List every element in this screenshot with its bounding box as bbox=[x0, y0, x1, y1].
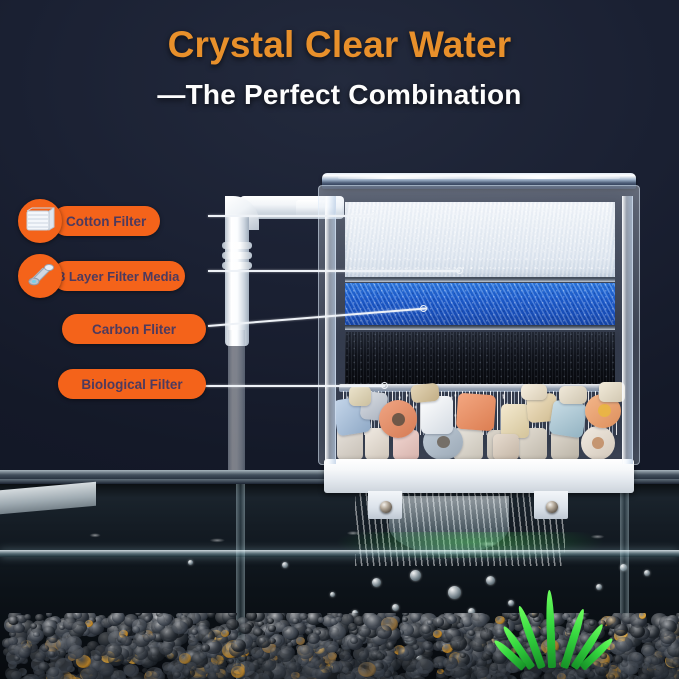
activated-carbon-layer bbox=[345, 332, 615, 384]
pipe-ring-upper bbox=[222, 242, 252, 249]
gravel-pebble bbox=[24, 614, 31, 620]
gravel-pebble bbox=[660, 631, 675, 644]
gravel-pebble bbox=[541, 673, 556, 679]
callout-label-carbon: Carbon Fliter bbox=[62, 314, 206, 344]
callout-label-cotton: Cotton Filter bbox=[52, 206, 160, 236]
gravel-pebble bbox=[121, 636, 132, 646]
gravel-pebble bbox=[105, 643, 122, 657]
bio-media-piece bbox=[456, 393, 496, 432]
product-infographic: Crystal Clear Water —The Perfect Combina… bbox=[0, 0, 679, 679]
gravel-pebble bbox=[112, 613, 125, 623]
gravel-pebble bbox=[48, 667, 59, 677]
gravel-pebble bbox=[253, 628, 262, 636]
gravel-pebble bbox=[56, 648, 66, 657]
bio-media-piece bbox=[549, 400, 588, 439]
callout-biological-filter[interactable]: Biological Filter bbox=[58, 369, 206, 399]
gravel-pebble bbox=[191, 629, 198, 635]
gravel-pebble bbox=[227, 658, 234, 664]
gravel-pebble bbox=[315, 668, 330, 679]
gravel-pebble bbox=[288, 662, 301, 673]
gravel-pebble bbox=[318, 617, 325, 623]
pipe-ring-mid bbox=[222, 252, 252, 259]
bio-media-piece bbox=[501, 404, 529, 438]
pipe-submerged-section bbox=[228, 330, 245, 470]
gravel-pebble bbox=[188, 637, 199, 646]
gravel-pebble bbox=[422, 641, 433, 650]
headline-block: Crystal Clear Water —The Perfect Combina… bbox=[0, 26, 679, 111]
filter-media-roll-icon bbox=[18, 254, 62, 298]
gravel-pebble bbox=[421, 625, 431, 634]
gravel-pebble bbox=[457, 623, 463, 628]
leader-dot-bio bbox=[381, 382, 388, 389]
gravel-pebble bbox=[651, 657, 661, 665]
gravel-pebble bbox=[132, 626, 140, 633]
gravel-pebble bbox=[433, 630, 442, 638]
gravel-pebble bbox=[296, 637, 305, 645]
page-title: Crystal Clear Water bbox=[0, 26, 679, 65]
gravel-pebble bbox=[672, 659, 679, 668]
lid-highlight bbox=[338, 176, 620, 179]
callout-carbon-filter[interactable]: Carbon Fliter bbox=[62, 314, 206, 344]
callout-label-media: 8 Layer Filter Media bbox=[52, 261, 185, 291]
gravel-pebble bbox=[410, 613, 421, 622]
bio-media-piece bbox=[410, 383, 440, 404]
water-line bbox=[0, 550, 679, 557]
gravel-pebble bbox=[631, 652, 642, 662]
gravel-pebble bbox=[199, 652, 207, 659]
bracket-screw-right bbox=[546, 501, 558, 513]
gravel-pebble bbox=[399, 648, 410, 657]
gravel-pebble bbox=[639, 613, 647, 619]
gravel-pebble bbox=[589, 620, 596, 626]
pump-housing-base bbox=[324, 459, 634, 493]
gravel-pebble bbox=[344, 671, 356, 679]
bio-media-piece bbox=[559, 386, 587, 404]
gravel-pebble bbox=[11, 671, 22, 679]
gravel-pebble bbox=[18, 647, 31, 658]
cotton-pad-icon bbox=[18, 199, 62, 243]
pipe-ring-lower bbox=[222, 262, 252, 269]
gravel-pebble bbox=[641, 645, 655, 657]
pipe-vertical bbox=[225, 216, 249, 346]
gravel-pebble bbox=[183, 668, 195, 678]
gravel-pebble bbox=[486, 673, 497, 679]
gravel-pebble bbox=[282, 626, 298, 640]
gravel-pebble bbox=[172, 621, 187, 634]
gravel-pebble bbox=[386, 642, 394, 649]
gravel-pebble bbox=[49, 651, 56, 657]
aquarium-filter-unit bbox=[318, 173, 640, 489]
biological-media-chamber bbox=[335, 382, 625, 465]
gravel-pebble bbox=[34, 669, 45, 679]
frame-post-left bbox=[325, 196, 336, 465]
callout-filter-media[interactable]: 8 Layer Filter Media bbox=[18, 254, 185, 298]
gravel-pebble bbox=[433, 617, 444, 627]
gravel-pebble bbox=[615, 637, 633, 652]
blue-filter-media-layer bbox=[345, 283, 615, 325]
gravel-pebble bbox=[217, 660, 227, 668]
bio-media-piece bbox=[349, 386, 371, 406]
leader-dot-media bbox=[456, 267, 463, 274]
leader-line-bio bbox=[205, 385, 385, 387]
gravel-pebble bbox=[557, 673, 566, 679]
gravel-pebble bbox=[81, 667, 98, 679]
gravel-pebble bbox=[159, 642, 174, 655]
callout-cotton-filter[interactable]: Cotton Filter bbox=[18, 199, 160, 243]
gravel-pebble bbox=[427, 620, 434, 626]
gravel-pebble bbox=[490, 663, 499, 670]
filter-media-chamber bbox=[318, 185, 640, 465]
gravel-pebble bbox=[221, 630, 229, 637]
gravel-pebble bbox=[133, 647, 148, 660]
gravel-pebble bbox=[152, 671, 160, 678]
gravel-pebble bbox=[637, 673, 651, 679]
cotton-filter-layer bbox=[345, 202, 615, 278]
gravel-pebble bbox=[394, 675, 401, 679]
leader-line-cotton bbox=[208, 215, 374, 217]
gravel-pebble bbox=[268, 625, 276, 631]
green-aquatic-plant bbox=[518, 582, 588, 668]
gravel-pebble bbox=[416, 659, 434, 674]
bio-media-piece bbox=[581, 426, 615, 460]
bracket-screw-left bbox=[380, 501, 392, 513]
layer-seam-lower bbox=[345, 325, 615, 330]
gravel-pebble bbox=[297, 645, 313, 659]
gravel-pebble bbox=[496, 629, 504, 636]
gravel-pebble bbox=[99, 663, 115, 677]
layer-seam-upper bbox=[345, 277, 615, 282]
gravel-pebble bbox=[329, 625, 346, 640]
gravel-pebble bbox=[468, 630, 475, 636]
leader-dot-cotton bbox=[370, 212, 377, 219]
bio-media-piece bbox=[521, 384, 547, 400]
bio-media-piece bbox=[493, 434, 519, 460]
leader-line-media bbox=[208, 270, 460, 272]
gravel-pebble bbox=[328, 652, 337, 660]
gravel-pebble bbox=[413, 674, 424, 679]
gravel-pebble bbox=[208, 672, 218, 679]
gravel-pebble bbox=[446, 615, 457, 624]
callout-label-bio: Biological Filter bbox=[58, 369, 206, 399]
bio-media-piece bbox=[379, 400, 417, 438]
leader-dot-carbon bbox=[420, 305, 427, 312]
gravel-pebble bbox=[46, 613, 52, 617]
page-subtitle: —The Perfect Combination bbox=[0, 79, 679, 111]
gravel-pebble bbox=[33, 632, 39, 637]
gravel-pebble bbox=[299, 613, 308, 620]
gravel-pebble bbox=[267, 618, 274, 624]
gravel-pebble bbox=[239, 623, 252, 634]
gravel-pebble bbox=[608, 631, 614, 636]
gravel-pebble bbox=[72, 621, 87, 634]
frame-post-right bbox=[622, 196, 633, 465]
